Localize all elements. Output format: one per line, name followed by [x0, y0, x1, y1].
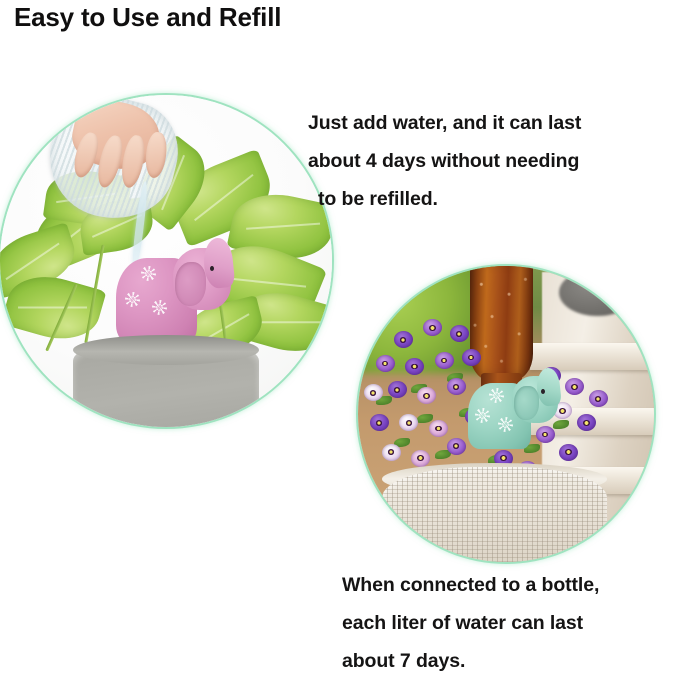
background-pot	[559, 269, 636, 316]
pansy-flower	[405, 358, 424, 375]
pansy-flower	[435, 352, 454, 369]
pansy-flower	[394, 331, 413, 348]
elephant-waterer	[468, 373, 557, 450]
woven-basket-planter	[382, 467, 607, 562]
flower-drain-hole	[489, 388, 504, 403]
flower-drain-hole	[475, 408, 490, 423]
pink-elephant-refill-photo	[0, 95, 332, 427]
pansy-flower	[382, 444, 401, 461]
pansy-flower	[388, 381, 407, 398]
pansy-flower	[376, 355, 395, 372]
condensation-droplets	[470, 266, 532, 381]
caption-bottom-line-1: When connected to a bottle,	[342, 566, 679, 604]
elephant-ear	[514, 386, 539, 420]
caption-top-line-1: Just add water, and it can last	[308, 104, 679, 142]
caption-top-line-3: to be refilled.	[308, 180, 679, 218]
page-title: Easy to Use and Refill	[14, 2, 281, 33]
pansy-flower	[577, 414, 596, 431]
amber-bottle	[470, 266, 532, 381]
elephant-ear	[175, 262, 207, 306]
pansy-flower	[559, 444, 578, 461]
grey-planter-rim	[73, 335, 259, 365]
pansy-flower	[411, 450, 430, 467]
basket-weave-texture	[382, 467, 607, 562]
shelf-slat	[530, 343, 654, 370]
caption-bottom-line-3: about 7 days.	[342, 642, 679, 680]
caption-bottom-line-2: each liter of water can last	[342, 604, 679, 642]
pansy-flower	[429, 420, 448, 437]
left-scene	[0, 95, 332, 427]
caption-bottom: When connected to a bottle, each liter o…	[342, 566, 679, 680]
caption-top-line-2: about 4 days without needing	[308, 142, 679, 180]
flower-drain-hole	[498, 417, 513, 432]
caption-top: Just add water, and it can last about 4 …	[308, 104, 679, 218]
pansy-flower	[462, 349, 481, 366]
pansy-flower	[447, 438, 466, 455]
elephant-waterer	[116, 244, 229, 344]
pansy-flower	[370, 414, 389, 431]
right-scene	[358, 266, 654, 562]
mint-elephant-bottle-photo	[358, 266, 654, 562]
pansy-flower	[450, 325, 469, 342]
